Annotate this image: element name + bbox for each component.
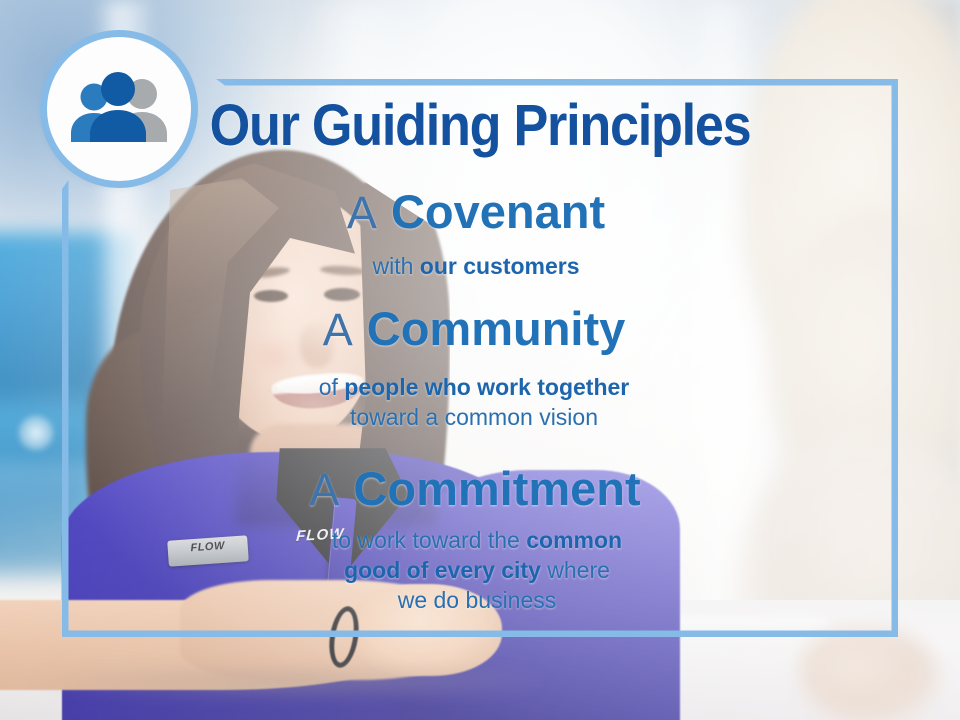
employee-cheek	[244, 336, 302, 376]
guiding-principles-poster: FLOW FLOW	[0, 0, 960, 720]
arm-desk-shadow	[40, 668, 540, 700]
people-badge	[47, 37, 191, 181]
people-group-icon	[67, 70, 171, 148]
employee-eye-right	[324, 288, 360, 301]
employee-name-badge: FLOW	[167, 535, 249, 567]
employee-name-badge-text: FLOW	[167, 538, 248, 556]
employee-chest-logo: FLOW	[296, 524, 371, 548]
car-emblem-blur	[18, 415, 54, 451]
employee-clasped-hands	[352, 584, 502, 676]
employee-nose	[300, 322, 334, 368]
employee-eye-left	[254, 290, 288, 302]
customer-hand	[800, 628, 940, 720]
